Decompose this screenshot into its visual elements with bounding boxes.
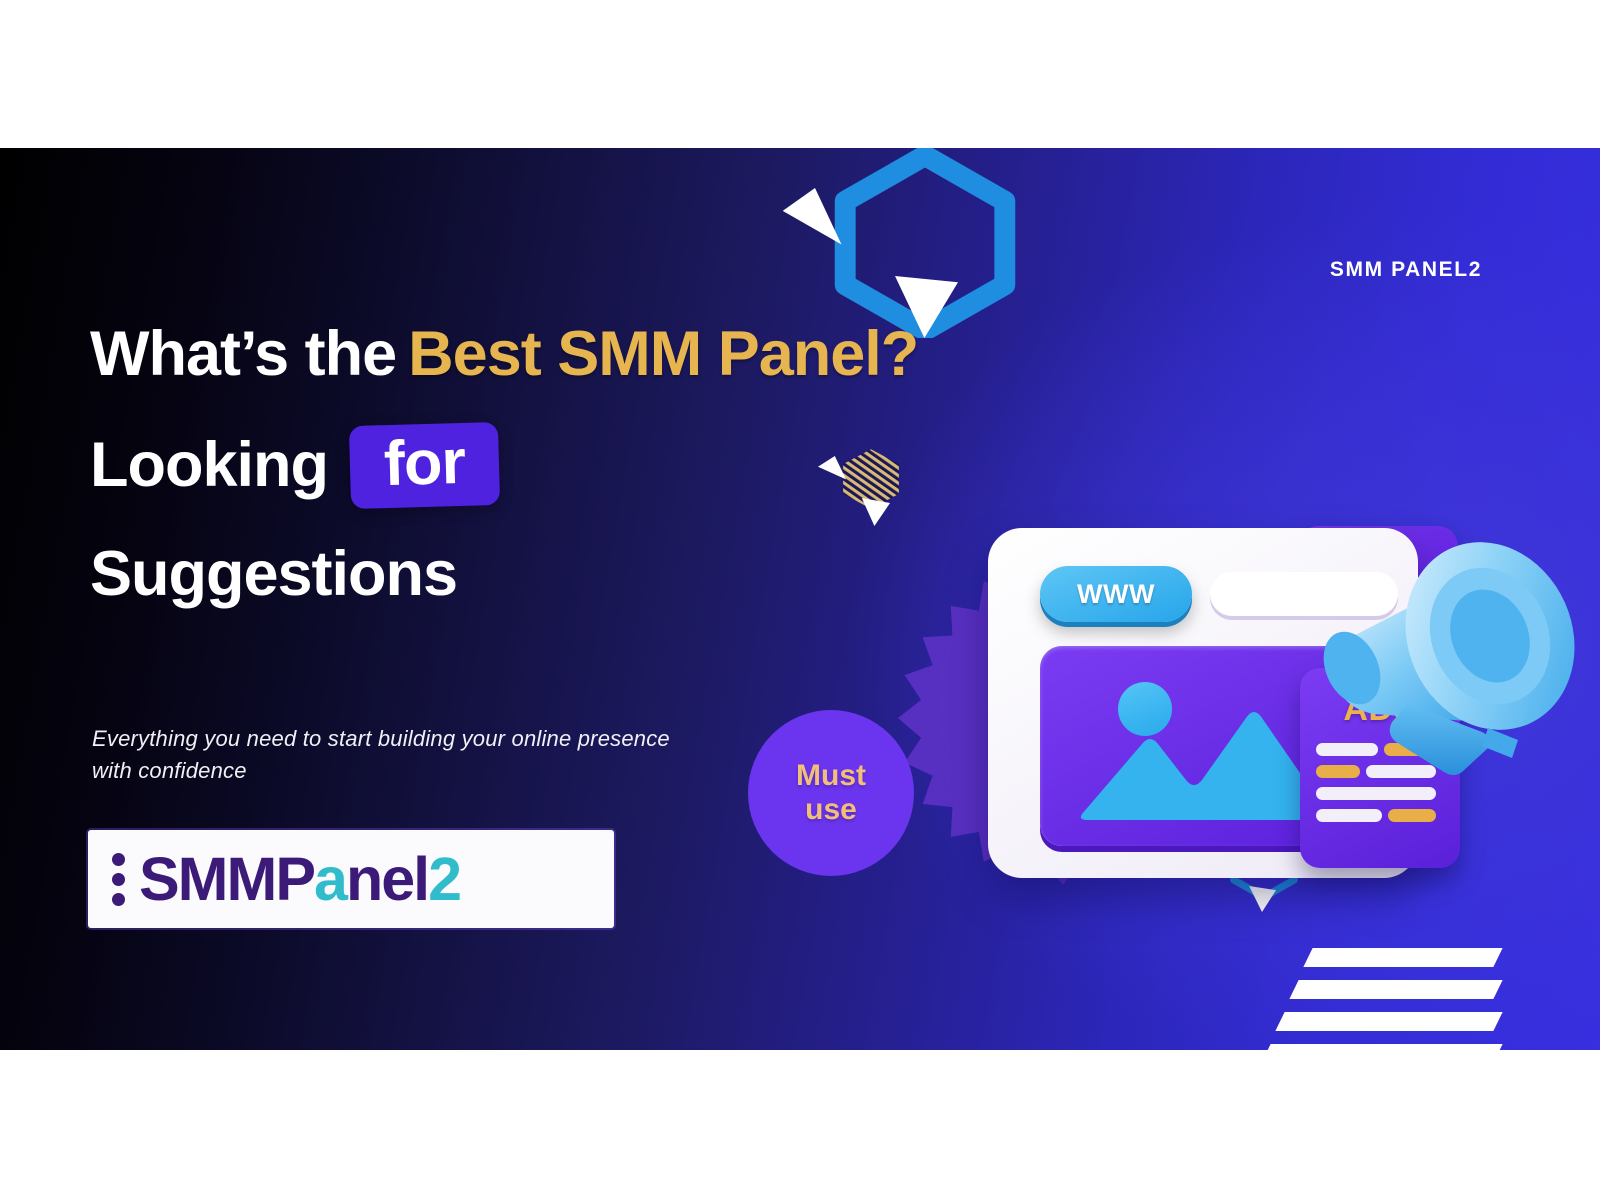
ads-row [1316,787,1444,800]
headline-for-chip: for [349,422,500,509]
www-pill-label: WWW [1040,566,1192,622]
must-use-line-2: use [805,793,857,827]
headline-line1-white: What’s the [90,319,396,389]
brand-tag-label: SMM PANEL2 [1330,258,1482,282]
logo-part-4: 2 [428,845,460,913]
promo-banner: What’s theBest SMM Panel? Looking for Su… [0,148,1600,1050]
image-mountain-icon [1074,702,1336,820]
headline-line2-white: Looking [90,434,328,497]
logo-wordmark: SMMPanel2 [139,849,460,910]
must-use-badge: Must use [748,710,914,876]
headline-line-2: Looking for [90,424,790,507]
diagonal-stripes-decoration [1270,948,1530,1050]
must-use-line-1: Must [796,759,866,793]
headline-line-1: What’s theBest SMM Panel? [90,323,790,386]
logo-part-3: nel [346,845,428,913]
subtitle-text: Everything you need to start building yo… [92,723,702,787]
logo-dots-icon [112,853,125,906]
headline-block: What’s theBest SMM Panel? Looking for Su… [90,323,790,606]
logo-part-1: SMMP [139,845,314,913]
ads-row [1316,809,1444,822]
logo-part-2: a [314,845,346,913]
megaphone-icon [1312,528,1582,778]
headline-line1-gold: Best SMM Panel? [408,319,918,389]
smmpanel2-logo: SMMPanel2 [88,830,614,928]
headline-line-3: Suggestions [90,543,790,606]
page-root: What’s theBest SMM Panel? Looking for Su… [0,0,1600,1200]
illustration-cluster: WWW ADS [960,378,1560,848]
